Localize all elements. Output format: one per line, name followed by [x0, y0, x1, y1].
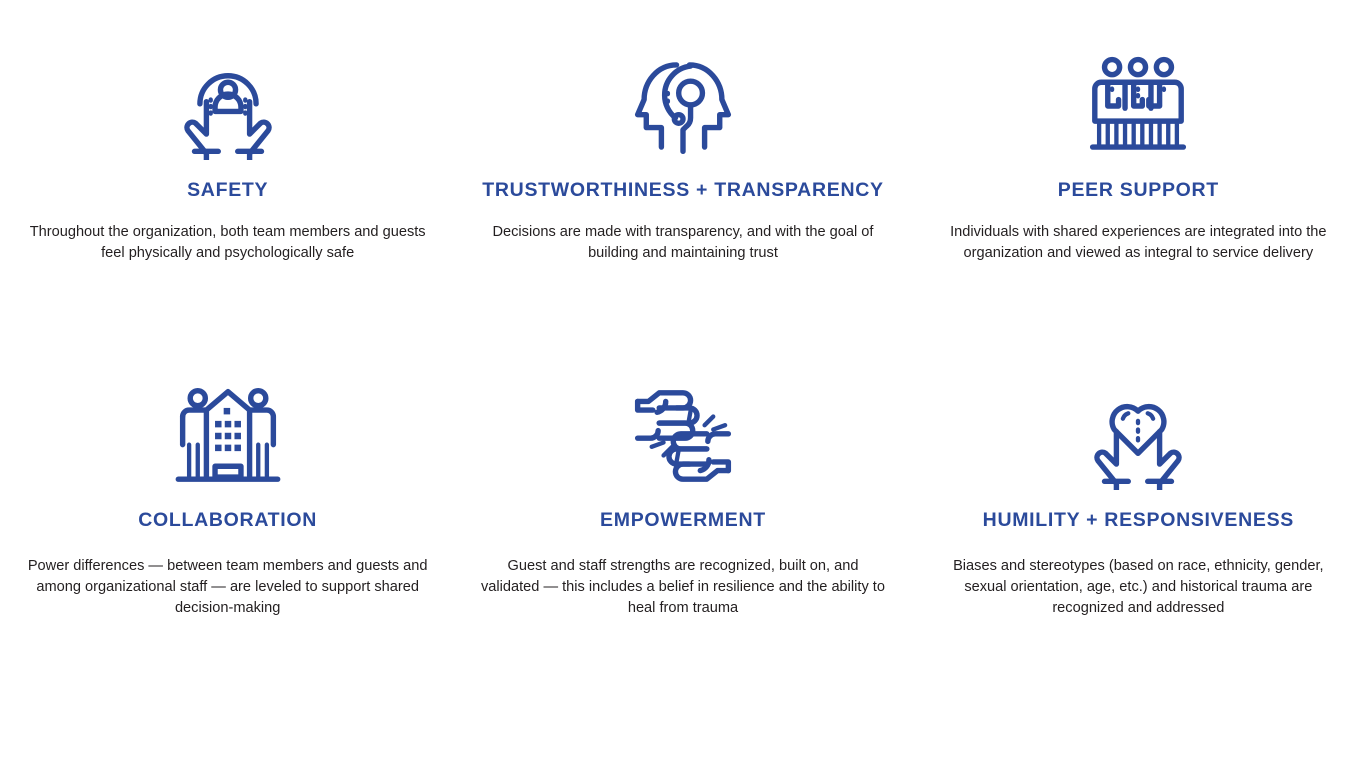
principle-card-peer-support: PEER SUPPORT Individuals with shared exp…	[911, 52, 1366, 382]
three-people-icon	[1084, 52, 1192, 160]
hands-holding-person-icon	[174, 52, 282, 160]
principle-description: Biases and stereotypes (based on race, e…	[933, 556, 1344, 619]
principle-card-trustworthiness: TRUSTWORTHINESS + TRANSPARENCY Decisions…	[455, 52, 910, 382]
principle-title: PEER SUPPORT	[1058, 178, 1219, 202]
principle-card-empowerment: EMPOWERMENT Guest and staff strengths ar…	[455, 382, 910, 712]
principle-description: Power differences — between team members…	[22, 556, 433, 619]
principle-description: Throughout the organization, both team m…	[22, 222, 433, 264]
principles-grid: SAFETY Throughout the organization, both…	[0, 0, 1366, 768]
principle-title: COLLABORATION	[138, 508, 317, 532]
principle-card-collaboration: COLLABORATION Power differences — betwee…	[0, 382, 455, 712]
principle-card-humility: HUMILITY + RESPONSIVENESS Biases and ste…	[911, 382, 1366, 712]
principle-description: Decisions are made with transparency, an…	[477, 222, 888, 264]
principle-title: EMPOWERMENT	[600, 508, 766, 532]
principle-title: HUMILITY + RESPONSIVENESS	[983, 508, 1294, 532]
principle-title: SAFETY	[187, 178, 268, 202]
head-with-idea-icon	[629, 52, 737, 160]
principle-title: TRUSTWORTHINESS + TRANSPARENCY	[482, 178, 883, 202]
hands-holding-heart-icon	[1084, 382, 1192, 490]
principle-card-safety: SAFETY Throughout the organization, both…	[0, 52, 455, 382]
principle-description: Guest and staff strengths are recognized…	[477, 556, 888, 619]
fist-bump-icon	[629, 382, 737, 490]
building-with-people-icon	[174, 382, 282, 490]
principle-description: Individuals with shared experiences are …	[933, 222, 1344, 264]
